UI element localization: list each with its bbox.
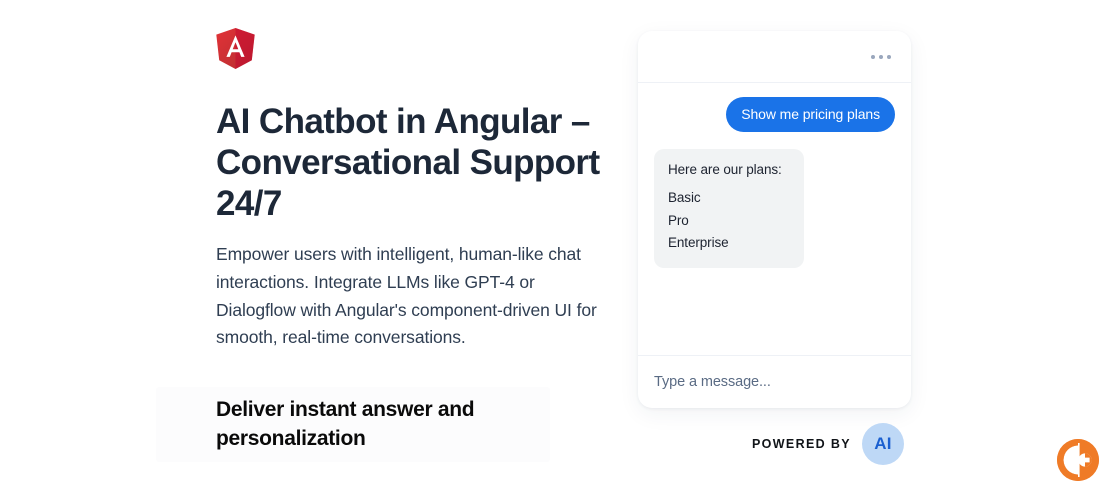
dot — [871, 55, 875, 59]
message-row-bot: Here are our plans: Basic Pro Enterprise — [654, 132, 895, 268]
more-horizontal-icon[interactable] — [867, 51, 895, 63]
bot-message-bubble: Here are our plans: Basic Pro Enterprise — [654, 149, 804, 268]
message-row-user: Show me pricing plans — [654, 97, 895, 132]
plan-option-pro[interactable]: Pro — [668, 210, 790, 233]
plan-option-basic[interactable]: Basic — [668, 187, 790, 210]
chat-header — [638, 31, 911, 83]
dot — [887, 55, 891, 59]
user-message-bubble[interactable]: Show me pricing plans — [726, 97, 895, 132]
brand-mark-orange-icon — [1055, 437, 1101, 483]
angular-logo — [216, 28, 255, 69]
hero-left-column: AI Chatbot in Angular – Conversational S… — [0, 0, 620, 495]
chat-message-list: Show me pricing plans Here are our plans… — [638, 83, 911, 355]
chat-widget: Show me pricing plans Here are our plans… — [638, 31, 911, 408]
bot-message-lead: Here are our plans: — [668, 161, 790, 179]
dot — [879, 55, 883, 59]
page-root: AI Chatbot in Angular – Conversational S… — [0, 0, 1110, 495]
hero-description: Empower users with intelligent, human-li… — [216, 241, 616, 352]
chat-input-bar — [638, 355, 911, 408]
claim-text: Deliver instant answer and personalizati… — [216, 395, 596, 453]
page-title: AI Chatbot in Angular – Conversational S… — [216, 101, 616, 224]
message-input[interactable] — [654, 374, 895, 390]
powered-by-label: POWERED BY — [752, 437, 851, 451]
powered-by-badge: POWERED BY AI — [752, 423, 904, 465]
ai-badge-circle: AI — [862, 423, 904, 465]
plan-option-enterprise[interactable]: Enterprise — [668, 232, 790, 255]
